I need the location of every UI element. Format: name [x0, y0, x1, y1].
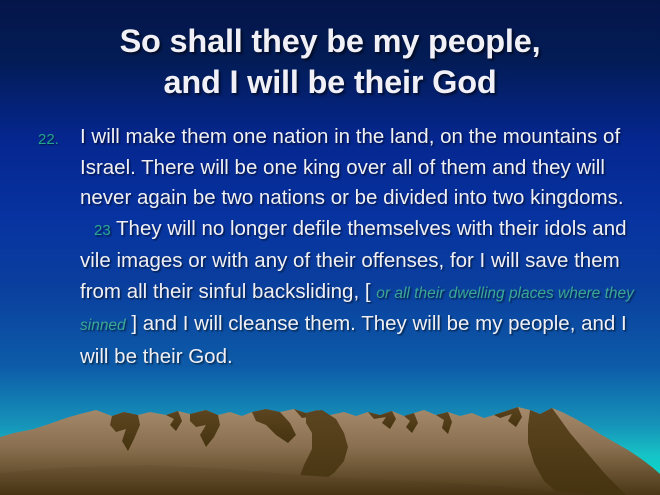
bracket-open: [: [365, 280, 371, 303]
verse-number-23: 23: [94, 222, 111, 239]
verse-body-part-1: I will make them one nation in the land,…: [80, 125, 624, 209]
verse-paragraph: 22.I will make them one nation in the la…: [36, 122, 636, 372]
verse-number-22: 22.: [38, 125, 59, 156]
verse-text-block: 22.I will make them one nation in the la…: [36, 122, 636, 372]
mountain-range-illustration: [0, 385, 660, 495]
bracket-close: ]: [131, 312, 137, 335]
slide-title: So shall they be my people, and I will b…: [0, 21, 660, 103]
presentation-slide: So shall they be my people, and I will b…: [0, 0, 660, 495]
verse-body-part-3: and I will cleanse them. They will be my…: [80, 312, 627, 368]
